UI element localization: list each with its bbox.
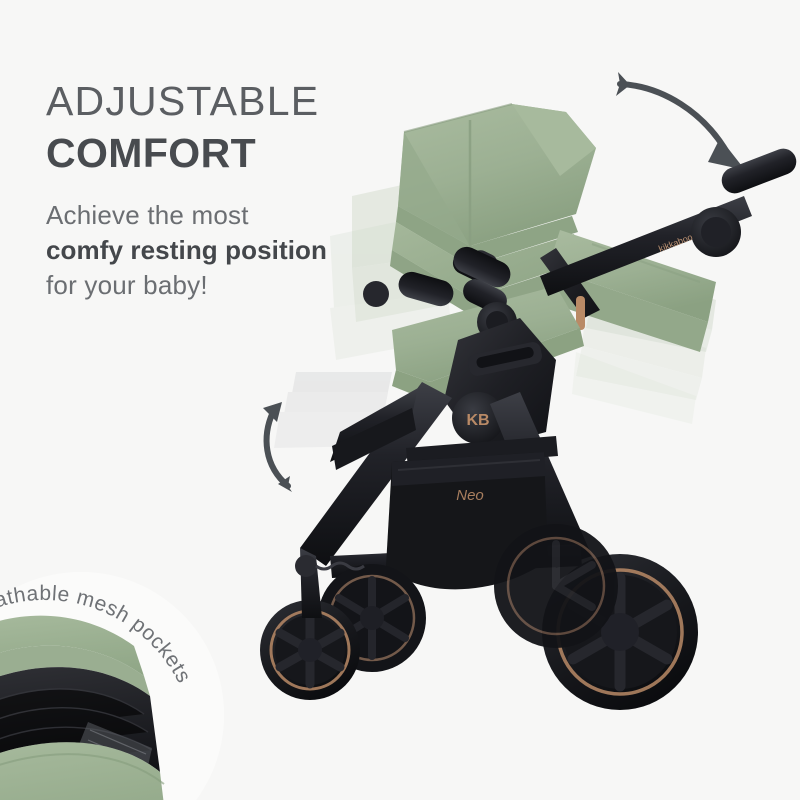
inset-circle-clip bbox=[0, 572, 224, 800]
marketing-image: ADJUSTABLE COMFORT Achieve the most comf… bbox=[0, 0, 800, 800]
hub-logo-text: KB bbox=[466, 412, 489, 429]
rear-wheel-far bbox=[494, 524, 618, 648]
product-model-label: Neo bbox=[456, 487, 484, 504]
feature-inset-mesh-pockets bbox=[0, 572, 224, 800]
